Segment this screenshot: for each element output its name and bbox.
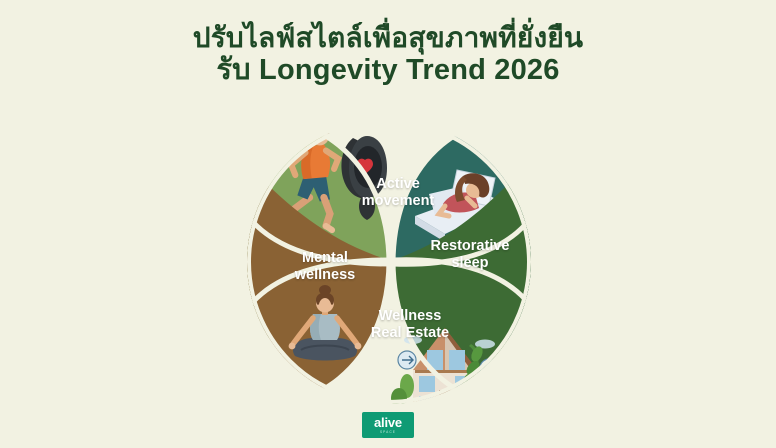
title-line-1: ปรับไลฟ์สไตล์เพื่อสุขภาพที่ยั่งยืน <box>0 22 776 54</box>
logo-subtext: SPACE <box>380 431 396 434</box>
four-petal-wellness-diagram: Active movement Restorative sleep Mental… <box>243 118 535 406</box>
title-line-2: รับ Longevity Trend 2026 <box>0 54 776 88</box>
diagram-svg <box>243 118 535 406</box>
alive-logo[interactable]: alive SPACE <box>362 412 414 438</box>
logo-wordmark: alive <box>374 416 402 429</box>
page-title: ปรับไลฟ์สไตล์เพื่อสุขภาพที่ยั่งยืน รับ L… <box>0 22 776 88</box>
